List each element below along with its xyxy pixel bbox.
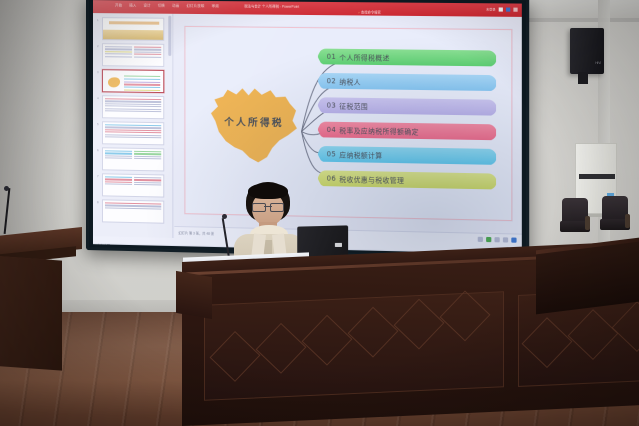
slide-number: 7: [97, 174, 99, 178]
ceiling-speaker: HiVi: [570, 28, 604, 74]
slideshow-icon[interactable]: [486, 237, 491, 242]
branch-label: 个人所得税概述: [339, 52, 390, 63]
branch-label: 税收优惠与税收管理: [339, 173, 404, 184]
slide-number: 5: [97, 122, 99, 126]
window-title: 税法与会计 个人所得税 - PowerPoint: [244, 3, 299, 9]
language-indicator[interactable]: 中文(中国): [97, 243, 111, 247]
slide-canvas-area[interactable]: 个人所得税: [174, 14, 521, 234]
tab-insert[interactable]: 插入: [129, 2, 136, 7]
list-item[interactable]: 7: [102, 173, 164, 197]
speaker-brand-label: HiVi: [595, 61, 601, 65]
window-controls[interactable]: 未登录: [486, 7, 518, 11]
normal-view-icon[interactable]: [478, 237, 483, 242]
slide-sorter-icon[interactable]: [503, 237, 508, 242]
tab-home[interactable]: 开始: [115, 2, 122, 7]
minimize-icon[interactable]: [506, 8, 510, 12]
list-item[interactable]: 6: [102, 147, 164, 171]
lectern-body: [0, 255, 62, 370]
list-item[interactable]: 5: [102, 121, 164, 145]
audience-chair: [560, 198, 590, 240]
branch-number: 03: [327, 101, 336, 109]
speaker-mount-bracket: [578, 72, 588, 84]
find-command-search[interactable]: 查找命令搜索: [358, 9, 381, 14]
zoom-slider[interactable]: [511, 237, 516, 242]
thumbnail-scrollbar[interactable]: [168, 16, 171, 56]
branch-list: 01 个人所得税概述 02 纳税人 03 征税范围: [317, 49, 504, 210]
lecture-hall-photo: HiVi 开始 插入 设计 切换 动画 幻: [0, 0, 639, 426]
center-node-leaf-shape: [209, 86, 297, 164]
branch-number: 02: [327, 77, 336, 85]
tab-animation[interactable]: 动画: [172, 3, 179, 8]
branch-label: 税率及应纳税所得额确定: [339, 125, 419, 136]
lectern-microphone-head: [4, 186, 9, 191]
branch-item-02[interactable]: 02 纳税人: [317, 73, 496, 91]
desk-panel-left: [204, 291, 504, 401]
ac-vent: [579, 174, 615, 179]
slide-thumbnail-panel[interactable]: 1 2 3: [93, 13, 173, 238]
branch-number: 04: [327, 126, 336, 134]
branch-label: 纳税人: [339, 76, 361, 86]
branch-number: 01: [327, 52, 336, 60]
slide-position-text: 幻灯片 第 3 张，共 48 张: [178, 230, 214, 236]
slide-number: 6: [97, 148, 99, 152]
restore-icon[interactable]: [499, 7, 503, 11]
branch-label: 征税范围: [339, 100, 368, 111]
list-item[interactable]: 2: [102, 43, 164, 67]
branch-item-05[interactable]: 05 应纳税额计算: [317, 146, 496, 165]
reading-view-icon[interactable]: [494, 237, 499, 242]
list-item[interactable]: 1: [102, 17, 164, 41]
branch-number: 06: [327, 174, 336, 182]
branch-item-04[interactable]: 04 税率及应纳税所得额确定: [317, 122, 496, 141]
branch-item-06[interactable]: 06 税收优惠与税收管理: [317, 170, 496, 189]
branch-label: 应纳税额计算: [339, 149, 382, 160]
chair-armrest: [625, 214, 630, 228]
branch-item-03[interactable]: 03 征税范围: [317, 97, 496, 115]
slide-number: 2: [97, 44, 99, 48]
lectern: [0, 232, 82, 382]
slide-number: 3: [97, 70, 99, 74]
tab-slideshow[interactable]: 幻灯片放映: [186, 3, 204, 8]
chair-armrest: [585, 216, 590, 230]
close-icon[interactable]: [513, 8, 517, 12]
slide-number: 4: [97, 96, 99, 100]
laptop-logo: [335, 243, 342, 247]
side-bench: [536, 242, 639, 315]
list-item[interactable]: 4: [102, 95, 164, 119]
branch-item-01[interactable]: 01 个人所得税概述: [317, 49, 496, 67]
branch-number: 05: [327, 150, 336, 158]
list-item-selected[interactable]: 3: [102, 69, 164, 93]
slide-number: 1: [97, 18, 99, 22]
eyeglasses-icon: [252, 203, 284, 210]
ribbon-tabs[interactable]: 开始 插入 设计 切换 动画 幻灯片放映 审阅: [115, 2, 219, 8]
audience-chair: [600, 196, 630, 238]
tab-transition[interactable]: 切换: [158, 3, 165, 8]
ribbon-bar[interactable]: 开始 插入 设计 切换 动画 幻灯片放映 审阅 税法与会计 个人所得税 - Po…: [93, 0, 522, 17]
slide-number: 8: [97, 200, 99, 204]
presenter-hair-fringe: [248, 183, 288, 199]
tab-review[interactable]: 审阅: [212, 3, 219, 8]
tab-design[interactable]: 设计: [143, 2, 150, 7]
account-label[interactable]: 未登录: [486, 7, 495, 11]
desk-left-return: [176, 271, 212, 319]
thumbnail-leaf-shape: [108, 77, 120, 87]
center-node-label: 个人所得税: [213, 114, 295, 129]
list-item[interactable]: 8: [102, 199, 164, 223]
desk-microphone-head: [222, 214, 227, 219]
